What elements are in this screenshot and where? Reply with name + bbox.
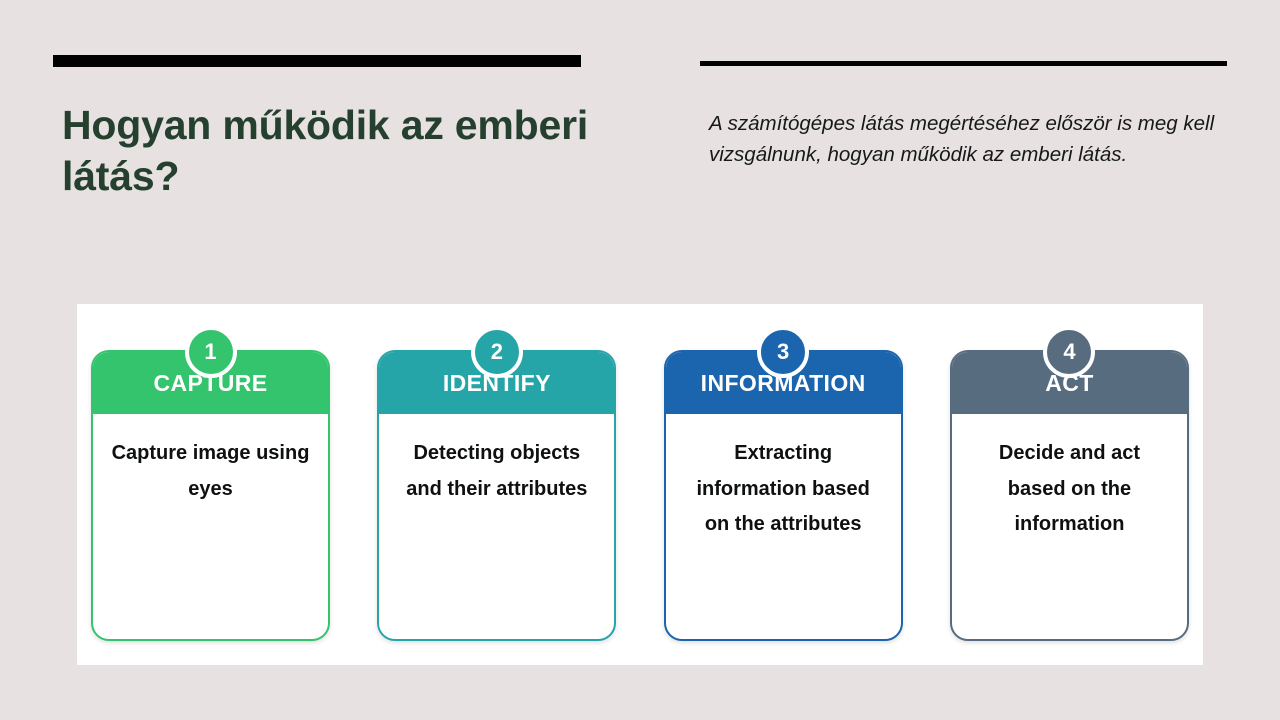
process-step-3: 3 INFORMATION Extracting information bas… — [664, 326, 903, 641]
title-rule — [53, 55, 581, 67]
process-card-2[interactable]: IDENTIFY Detecting objects and their att… — [377, 350, 616, 641]
card-body-4: Decide and act based on the information — [952, 414, 1187, 639]
process-step-1: 1 CAPTURE Capture image using eyes — [91, 326, 330, 641]
step-number-2: 2 — [491, 341, 503, 363]
card-body-3: Extracting information based on the attr… — [666, 414, 901, 639]
page-title: Hogyan működik az emberi látás? — [62, 100, 602, 203]
subtitle-text: A számítógépes látás megértéséhez előszö… — [709, 108, 1219, 170]
step-number-1: 1 — [204, 341, 216, 363]
step-badge-4: 4 — [1043, 326, 1095, 378]
step-badge-1: 1 — [185, 326, 237, 378]
subtitle-rule — [700, 61, 1227, 66]
card-body-1: Capture image using eyes — [93, 414, 328, 639]
slide: Hogyan működik az emberi látás? A számít… — [0, 0, 1280, 720]
card-description-2: Detecting objects and their attributes — [406, 442, 587, 500]
step-number-4: 4 — [1063, 341, 1075, 363]
process-card-list: 1 CAPTURE Capture image using eyes 2 — [91, 326, 1189, 641]
process-card-3[interactable]: INFORMATION Extracting information based… — [664, 350, 903, 641]
card-description-4: Decide and act based on the information — [999, 442, 1140, 535]
process-step-2: 2 IDENTIFY Detecting objects and their a… — [377, 326, 616, 641]
card-description-3: Extracting information based on the attr… — [696, 442, 869, 535]
process-card-4[interactable]: ACT Decide and act based on the informat… — [950, 350, 1189, 641]
process-step-4: 4 ACT Decide and act based on the inform… — [950, 326, 1189, 641]
step-number-3: 3 — [777, 341, 789, 363]
step-badge-3: 3 — [757, 326, 809, 378]
step-badge-2: 2 — [471, 326, 523, 378]
infographic-panel: 1 CAPTURE Capture image using eyes 2 — [77, 304, 1203, 665]
process-card-1[interactable]: CAPTURE Capture image using eyes — [91, 350, 330, 641]
card-body-2: Detecting objects and their attributes — [379, 414, 614, 639]
card-description-1: Capture image using eyes — [112, 442, 310, 500]
